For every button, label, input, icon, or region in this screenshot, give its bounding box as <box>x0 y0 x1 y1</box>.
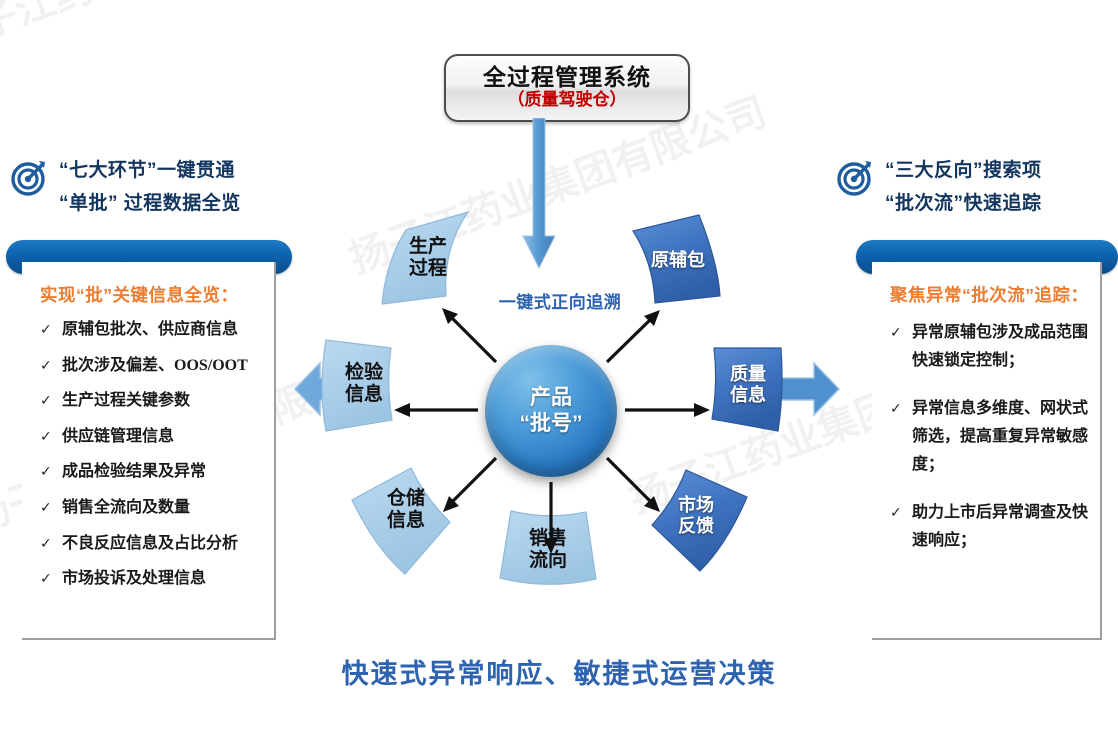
check-icon: ✓ <box>40 320 52 339</box>
check-icon: ✓ <box>40 534 52 553</box>
list-item: ✓ 异常原辅包涉及成品范围快速锁定控制； <box>890 319 1094 375</box>
bottom-caption: 快速式异常响应、敏捷式运营决策 <box>0 652 1118 691</box>
core-product-batch: 产品 “批号” <box>485 345 617 477</box>
list-item-label: 不良反应信息及占比分析 <box>62 533 238 555</box>
list-item: ✓ 批次涉及偏差、OOS/OOT <box>40 355 268 377</box>
list-item-label: 原辅包批次、供应商信息 <box>62 319 238 341</box>
list-item-label: 销售全流向及数量 <box>62 497 190 519</box>
list-item: ✓ 异常信息多维度、网状式筛选，提高重复异常敏感度； <box>890 395 1094 479</box>
list-item-label: 助力上市后异常调查及快速响应； <box>912 499 1094 555</box>
slide-canvas: 扬子江药业集团有限公司 扬子江药业集团有限公司 扬子江药业集团有限公司 扬子江药… <box>0 0 1118 749</box>
list-item: ✓ 销售全流向及数量 <box>40 497 268 519</box>
check-icon: ✓ <box>40 569 52 588</box>
list-item: ✓ 原辅包批次、供应商信息 <box>40 319 268 341</box>
watermark: 扬子江药业集团有限公司 <box>0 0 363 65</box>
list-item: ✓ 市场投诉及处理信息 <box>40 568 268 590</box>
headline-left-line1: “七大环节”一键贯通 <box>59 155 241 182</box>
check-icon: ✓ <box>40 427 52 446</box>
list-item-label: 异常信息多维度、网状式筛选，提高重复异常敏感度； <box>912 395 1094 479</box>
segment-sales-flow <box>500 511 596 584</box>
list-item: ✓ 不良反应信息及占比分析 <box>40 533 268 555</box>
list-item-label: 批次涉及偏差、OOS/OOT <box>62 355 248 377</box>
list-item: ✓ 供应链管理信息 <box>40 426 268 448</box>
headline-left: “七大环节”一键贯通 “单批” 过程数据全览 <box>10 155 241 215</box>
list-item: ✓ 生产过程关键参数 <box>40 390 268 412</box>
page-title: 全过程管理系统 <box>483 65 651 89</box>
page-subtitle: （质量驾驶仓） <box>508 90 627 110</box>
check-icon: ✓ <box>890 399 902 418</box>
core-line2: “批号” <box>520 411 583 437</box>
check-icon: ✓ <box>40 356 52 375</box>
segment-raw-materials <box>633 215 720 303</box>
panel-left-heading: 实现“批”关键信息全览： <box>40 282 268 307</box>
segment-quality-info <box>712 348 782 431</box>
list-item-label: 异常原辅包涉及成品范围快速锁定控制； <box>912 319 1094 375</box>
list-item-label: 供应链管理信息 <box>62 426 174 448</box>
headline-right-line2: “批次流”快速追踪 <box>885 188 1042 215</box>
system-title-box: 全过程管理系统 （质量驾驶仓） <box>444 54 690 122</box>
check-icon: ✓ <box>890 323 902 342</box>
target-icon <box>10 157 50 197</box>
panel-right-heading: 聚焦异常“批次流”追踪： <box>890 282 1094 307</box>
headline-right-line1: “三大反向”搜索项 <box>885 155 1042 182</box>
panel-left: 实现“批”关键信息全览： ✓ 原辅包批次、供应商信息 ✓ 批次涉及偏差、OOS/… <box>6 240 292 640</box>
segment-inspection-info <box>322 340 392 431</box>
panel-left-body: 实现“批”关键信息全览： ✓ 原辅包批次、供应商信息 ✓ 批次涉及偏差、OOS/… <box>22 262 276 640</box>
check-icon: ✓ <box>890 503 902 522</box>
list-item-label: 成品检验结果及异常 <box>62 461 206 483</box>
target-icon <box>836 157 876 197</box>
core-line1: 产品 <box>530 385 572 411</box>
segment-market-feedback <box>652 470 747 571</box>
segment-production-process <box>382 212 468 304</box>
check-icon: ✓ <box>40 498 52 517</box>
list-item-label: 生产过程关键参数 <box>62 390 190 412</box>
check-icon: ✓ <box>40 462 52 481</box>
panel-right: 聚焦异常“批次流”追踪： ✓ 异常原辅包涉及成品范围快速锁定控制； ✓ 异常信息… <box>856 240 1118 640</box>
traceability-wheel: 产品 “批号” 生产 过程 原辅包 质量 信息 市场 反馈 销售 流向 仓储 信… <box>300 200 820 620</box>
panel-right-body: 聚焦异常“批次流”追踪： ✓ 异常原辅包涉及成品范围快速锁定控制； ✓ 异常信息… <box>872 262 1102 640</box>
list-item-label: 市场投诉及处理信息 <box>62 568 206 590</box>
list-item: ✓ 助力上市后异常调查及快速响应； <box>890 499 1094 555</box>
segment-warehouse-info <box>352 468 450 574</box>
headline-left-line2: “单批” 过程数据全览 <box>59 188 241 215</box>
headline-right: “三大反向”搜索项 “批次流”快速追踪 <box>836 155 1042 215</box>
list-item: ✓ 成品检验结果及异常 <box>40 461 268 483</box>
check-icon: ✓ <box>40 391 52 410</box>
